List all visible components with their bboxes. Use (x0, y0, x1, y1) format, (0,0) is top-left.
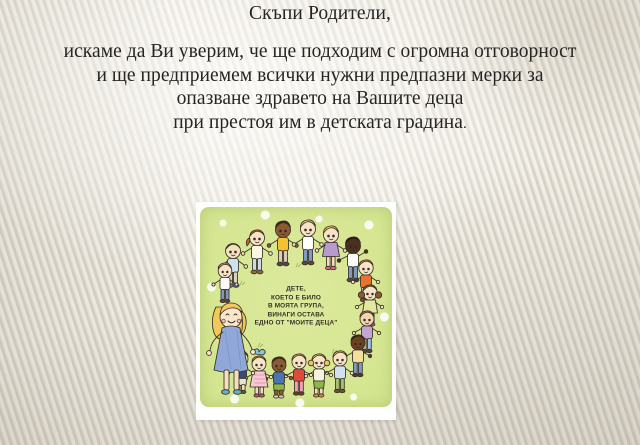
child-figure (304, 354, 332, 397)
slide-canvas: Скъпи Родители, искаме да Ви уверим, че … (0, 0, 640, 445)
message-text-block: Скъпи Родители, искаме да Ви уверим, че … (0, 2, 640, 136)
salutation-line: Скъпи Родители, (0, 2, 640, 26)
child-figure (264, 357, 292, 398)
illustration-frame: ДЕТЕ, КОЕТО Е БИЛО В МОЯТА ГРУПА, ВИНАГИ… (196, 202, 396, 420)
illustration-caption: ДЕТЕ, КОЕТО Е БИЛО В МОЯТА ГРУПА, ВИНАГИ… (244, 286, 348, 329)
child-figure (244, 349, 272, 397)
illustration-canvas: ДЕТЕ, КОЕТО Е БИЛО В МОЯТА ГРУПА, ВИНАГИ… (200, 207, 392, 407)
caption-line-5: ЕДНО ОТ "МОИТЕ ДЕЦА" (244, 320, 348, 329)
message-line-1: искаме да Ви уверим, че ще подходим с ог… (0, 40, 640, 64)
caption-line-1: ДЕТЕ, (244, 286, 348, 295)
caption-line-3: В МОЯТА ГРУПА, (244, 303, 348, 312)
final-period: . (463, 116, 467, 132)
message-line-4: при престоя им в детската градина (173, 112, 463, 133)
message-body: искаме да Ви уверим, че ще подходим с ог… (0, 40, 640, 136)
child-figure (315, 226, 347, 270)
caption-line-2: КОЕТО Е БИЛО (244, 294, 348, 303)
caption-line-4: ВИНАГИ ОСТАВА (244, 311, 348, 320)
message-line-4-wrapper: при престоя им в детската градина. (0, 111, 640, 137)
child-figure (325, 351, 353, 393)
message-line-2: и ще предприемем всички нужни предпазни … (0, 64, 640, 88)
child-figure (292, 220, 323, 265)
message-line-3: опазване здравето на Вашите деца (0, 87, 640, 111)
